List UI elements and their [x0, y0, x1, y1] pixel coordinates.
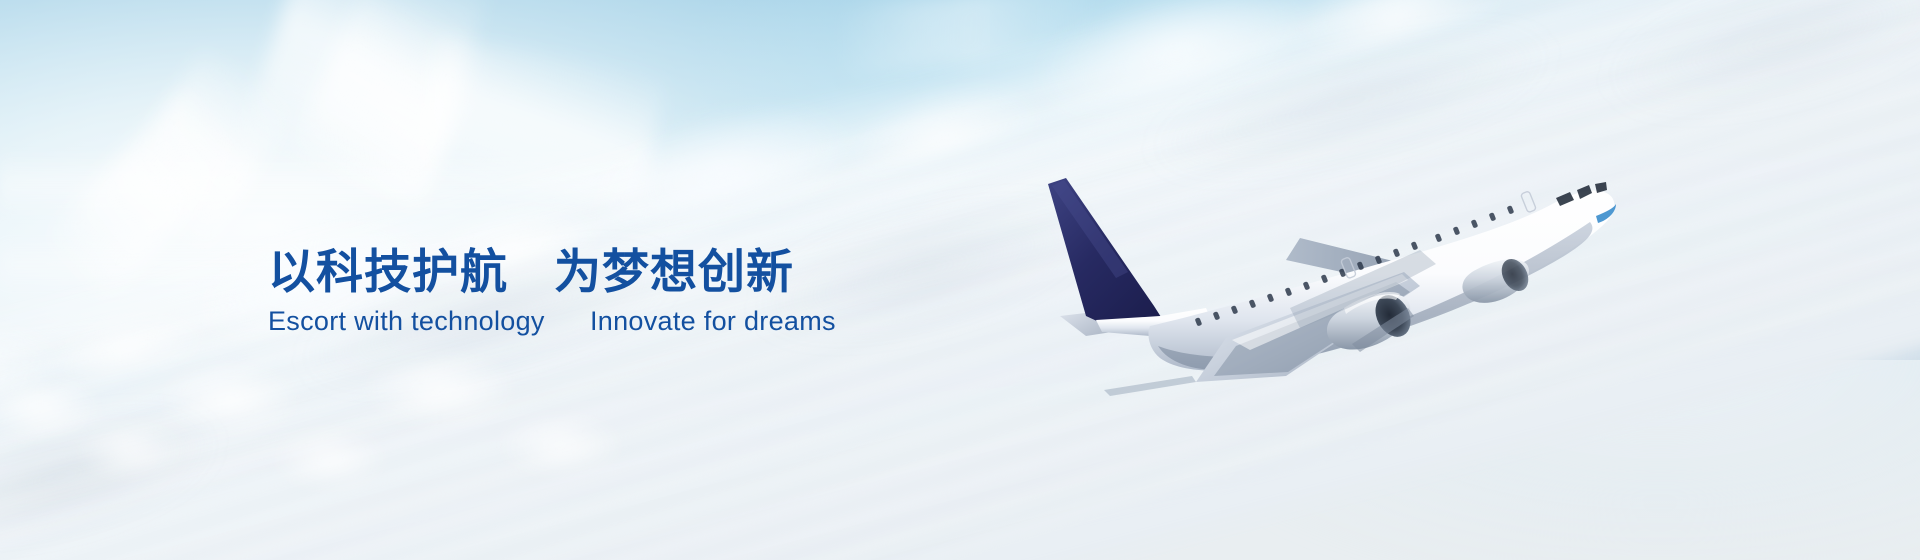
- airplane-wing-near-highlight: [1232, 274, 1408, 350]
- airplane-tail-fin-highlight: [1052, 180, 1128, 278]
- airplane-wing-root-fairing: [1290, 250, 1436, 328]
- sky-haze-band: [0, 150, 1920, 220]
- slogan-subline-secondary: Innovate for dreams: [590, 307, 836, 337]
- cloud-haze-right: [1180, 170, 1920, 560]
- cirrus-cloud-streak: [415, 36, 666, 214]
- airplane-vector: [1048, 178, 1616, 396]
- slogan-block: 以科技护航 为梦想创新 Escort with technology Innov…: [268, 248, 1028, 337]
- cloud-puffs: [0, 330, 960, 560]
- airplane-tail-fin: [1048, 178, 1168, 328]
- slogan-subline: Escort with technology Innovate for drea…: [268, 307, 1028, 337]
- airplane-fuselage-belly: [1158, 222, 1592, 370]
- cirrus-cloud-streak: [41, 87, 248, 303]
- airplane-wing-near: [1196, 272, 1420, 382]
- airplane-cabin-windows: [1195, 205, 1515, 326]
- cirrus-cloud-streak: [837, 0, 1103, 77]
- airplane-horizontal-stabilizer: [1060, 308, 1150, 336]
- airplane-doors: [1341, 191, 1537, 279]
- sky-right-wash: [1360, 0, 1920, 360]
- cirrus-cloud-streak: [113, 49, 296, 251]
- slogan-subline-primary: Escort with technology: [268, 307, 590, 337]
- slogan-headline: 以科技护航 为梦想创新: [268, 248, 1028, 298]
- airplane-wing-far: [1286, 238, 1470, 296]
- airplane-wingtip-trail: [1104, 376, 1196, 396]
- slogan-headline-primary: 以科技护航: [268, 248, 508, 298]
- cirrus-cloud-streak: [289, 0, 490, 211]
- hero-banner: 以科技护航 为梦想创新 Escort with technology Innov…: [0, 0, 1920, 560]
- airplane-engine-near: [1327, 289, 1418, 352]
- airplane-nose-accent: [1596, 204, 1616, 223]
- cirrus-cloud-streak: [239, 0, 491, 204]
- airplane-fuselage: [1148, 190, 1614, 370]
- airplane-image: [1000, 130, 1640, 390]
- airplane-tail-cone: [1096, 308, 1214, 336]
- airplane-engine-far: [1462, 254, 1533, 303]
- cloud-bank-crest: [0, 0, 1920, 484]
- airplane-wing-near-shadow: [1214, 282, 1410, 376]
- airplane-cockpit-windows: [1556, 182, 1607, 206]
- slogan-headline-secondary: 为梦想创新: [554, 248, 794, 298]
